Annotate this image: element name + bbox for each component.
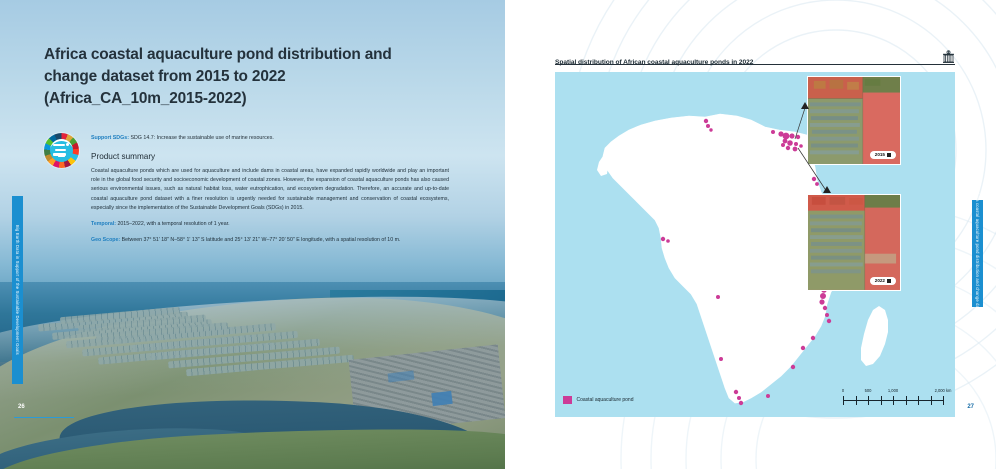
- map-scalebar: 05001,0002,000 km: [843, 388, 943, 405]
- product-summary-text: Coastal aquaculture ponds which are used…: [91, 167, 449, 214]
- scalebar-tick: [931, 396, 932, 405]
- pond-marker: [815, 182, 819, 186]
- pond-marker: [716, 295, 720, 299]
- right-page: Spatial distribution of African coastal …: [505, 0, 996, 469]
- page-title: Africa coastal aquaculture pond distribu…: [44, 44, 444, 110]
- map-header-rule: [555, 64, 955, 65]
- right-side-tab: Africa coastal aquaculture pond distribu…: [972, 200, 983, 307]
- left-page: Africa coastal aquaculture pond distribu…: [0, 0, 505, 469]
- inset-2015-year: 2015: [875, 152, 885, 157]
- pond-marker: [812, 177, 816, 181]
- document-spread: Africa coastal aquaculture pond distribu…: [0, 0, 996, 469]
- left-page-number: 26: [18, 404, 25, 410]
- scalebar-tick: [943, 396, 944, 405]
- pond-marker: [787, 140, 793, 146]
- scalebar-label: 500: [865, 388, 872, 393]
- temporal-line: Temporal: 2015–2022, with a temporal res…: [91, 220, 449, 229]
- pond-marker: [666, 239, 670, 243]
- inset-2022-label: 2022: [870, 277, 896, 285]
- right-side-tab-label: Africa coastal aquaculture pond distribu…: [975, 190, 980, 318]
- pond-marker: [801, 346, 805, 350]
- pond-marker: [706, 124, 710, 128]
- support-sdgs-line: Support SDGs: SDG 14.7: Increase the sus…: [91, 135, 465, 143]
- pond-marker: [799, 144, 803, 148]
- blue-pool-1: [431, 391, 452, 406]
- summary-column: Support SDGs: SDG 14.7: Increase the sus…: [91, 133, 465, 246]
- pond-marker: [709, 128, 712, 131]
- pond-marker: [789, 133, 794, 138]
- pond-marker: [739, 401, 743, 405]
- temporal-value: 2015–2022, with a temporal resolution of…: [117, 221, 229, 227]
- right-page-number: 27: [967, 404, 974, 410]
- scalebar-labels: 05001,0002,000 km: [843, 388, 943, 395]
- inset-2022-image: [808, 195, 900, 290]
- scalebar-label: 0: [842, 388, 844, 393]
- pond-marker: [704, 119, 708, 123]
- pond-marker: [825, 313, 829, 317]
- legend-swatch: [563, 396, 572, 405]
- pond-marker: [796, 135, 800, 139]
- left-page-text-block: Africa coastal aquaculture pond distribu…: [0, 0, 505, 245]
- scalebar-tick: [868, 396, 869, 405]
- pond-marker: [791, 365, 795, 369]
- scalebar-label: 1,000: [888, 388, 898, 393]
- pond-marker: [794, 142, 798, 146]
- inset-2022-marker-icon: [887, 279, 891, 283]
- scalebar-tick: [856, 396, 857, 405]
- sdg-wheel-icon: [44, 133, 79, 168]
- pond-marker: [771, 130, 775, 134]
- product-summary-heading: Product summary: [91, 152, 465, 161]
- left-side-tab-label: Big Earth Data in Support of the Sustain…: [15, 225, 20, 355]
- madagascar: [861, 306, 888, 366]
- pond-marker: [734, 390, 738, 394]
- pond-marker: [786, 146, 790, 150]
- scalebar-label: 2,000 km: [935, 388, 952, 393]
- pond-marker: [823, 306, 827, 310]
- left-page-number-rule: [14, 417, 74, 418]
- pond-marker: [783, 133, 790, 140]
- pond-marker: [661, 237, 665, 241]
- pond-marker: [737, 396, 741, 400]
- sdg-section: Support SDGs: SDG 14.7: Increase the sus…: [44, 133, 465, 246]
- pond-marker: [811, 336, 815, 340]
- left-side-tab: Big Earth Data in Support of the Sustain…: [12, 196, 23, 384]
- pond-marker: [827, 319, 831, 323]
- pond-marker: [793, 147, 798, 152]
- scalebar-tick: [893, 396, 894, 405]
- inset-2015-label: 2015: [870, 151, 896, 159]
- scalebar-tick: [918, 396, 919, 405]
- africa-map: 2015: [555, 72, 955, 417]
- scalebar-tick: [881, 396, 882, 405]
- scalebar-tick: [843, 396, 844, 405]
- inset-2015-marker-icon: [887, 153, 891, 157]
- map-legend: Coastal aquaculture pond: [563, 396, 634, 405]
- scalebar-tick: [906, 396, 907, 405]
- support-sdgs-label: Support SDGs:: [91, 135, 129, 141]
- scalebar-ticks: [843, 396, 943, 405]
- sdg14-fish-icon: [53, 143, 70, 158]
- geoscope-value: Between 37° 51' 18" N–58° 1' 13" S latit…: [122, 237, 401, 243]
- inset-2022-year: 2022: [875, 278, 885, 283]
- pond-marker: [766, 394, 770, 398]
- geoscope-line: Geo Scope: Between 37° 51' 18" N–58° 1' …: [91, 236, 449, 245]
- support-sdgs-value: SDG 14.7: Increase the sustainable use o…: [130, 135, 273, 141]
- inset-2015: 2015: [807, 76, 901, 165]
- pond-marker: [819, 299, 824, 304]
- pond-marker: [781, 143, 785, 147]
- temporal-label: Temporal:: [91, 221, 116, 227]
- inset-2022: 2022: [807, 194, 901, 291]
- legend-label: Coastal aquaculture pond: [577, 397, 634, 403]
- pond-marker: [719, 357, 723, 361]
- pond-marker: [820, 293, 826, 299]
- geoscope-label: Geo Scope:: [91, 237, 120, 243]
- pond-marker: [783, 139, 788, 144]
